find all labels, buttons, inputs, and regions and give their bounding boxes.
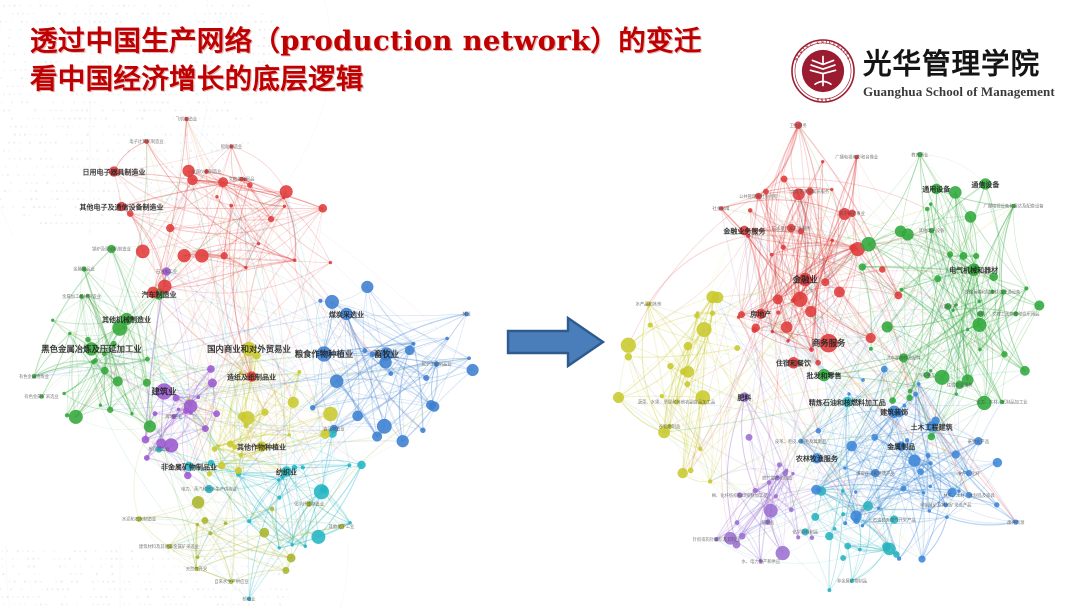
svg-text:水产品和其他: 水产品和其他 — [636, 301, 662, 308]
svg-text:金属加工机械制造业: 金属加工机械制造业 — [62, 293, 101, 300]
svg-text:通用设备: 通用设备 — [922, 185, 951, 194]
svg-text:汽车整车: 汽车整车 — [918, 372, 936, 379]
svg-text:广播电视设备和雷达及配套设备: 广播电视设备和雷达及配套设备 — [983, 203, 1044, 210]
svg-text:谷物磨制品: 谷物磨制品 — [659, 423, 680, 430]
school-name-en: Guanghua School of Management — [863, 84, 1063, 100]
svg-text:金属制品业: 金属制品业 — [73, 266, 95, 273]
svg-text:汽车制造业: 汽车制造业 — [142, 290, 177, 299]
svg-text:其他电子及通信设备制造业: 其他电子及通信设备制造业 — [80, 202, 164, 211]
svg-text:化学纤维制造业: 化学纤维制造业 — [294, 501, 325, 508]
svg-text:批发和零售: 批发和零售 — [807, 371, 842, 380]
network-graph-after: 卫生服务广播电视电影和音像业教育事业公共管理和社会组织文化艺术和娱乐服务科学研究… — [604, 108, 1072, 598]
svg-text:房地产: 房地产 — [750, 310, 771, 319]
svg-text:农林牧渔服务: 农林牧渔服务 — [795, 454, 839, 463]
svg-text:非金属矿物制品: 非金属矿物制品 — [837, 578, 867, 585]
peking-university-seal-icon: PEKING UNIVERSITY 1898 — [790, 38, 856, 104]
svg-text:卫生服务: 卫生服务 — [790, 122, 808, 129]
svg-text:社会保障: 社会保障 — [712, 205, 730, 212]
svg-text:其他化学工业: 其他化学工业 — [329, 523, 355, 530]
svg-text:畜牧业产品: 畜牧业产品 — [968, 438, 989, 445]
transition-arrow — [506, 314, 606, 370]
svg-text:石油和天然气开采产品: 石油和天然气开采产品 — [873, 516, 916, 523]
svg-text:居于工业制品业: 居于工业制品业 — [421, 361, 452, 368]
svg-text:通信设备: 通信设备 — [971, 180, 1000, 189]
svg-text:水、电力生产和供应: 水、电力生产和供应 — [741, 558, 780, 565]
svg-text:船舶制造业: 船舶制造业 — [221, 143, 243, 150]
svg-text:天然气开采: 天然气开采 — [186, 566, 208, 573]
title-line-2: 看中国经济增长的底层逻辑 — [30, 60, 770, 98]
svg-text:食品制造业: 食品制造业 — [323, 426, 345, 433]
svg-text:房地产业: 房地产业 — [165, 413, 183, 420]
svg-text:水泥和石灰制造业: 水泥和石灰制造业 — [122, 516, 157, 523]
svg-text:废弃资源: 废弃资源 — [1007, 519, 1025, 526]
svg-text:化学、化纤: 化学、化纤 — [958, 470, 980, 477]
svg-text:土木工程建筑: 土木工程建筑 — [911, 422, 953, 431]
svg-text:纸制品: 纸制品 — [761, 519, 774, 526]
network-graph-before: 日用电子器具制造业其他电子及通信设备制造业电子计算机制造业飞机制造业船舶制造业仪… — [14, 104, 514, 604]
svg-text:化学原料制品: 化学原料制品 — [792, 529, 818, 536]
svg-text:教育事业: 教育事业 — [911, 151, 929, 158]
svg-text:科学研究事业: 科学研究事业 — [839, 210, 865, 217]
svg-text:广播电视电影和音像业: 广播电视电影和音像业 — [835, 154, 879, 161]
svg-text:燃气生产和供应: 燃气生产和供应 — [762, 475, 793, 482]
svg-text:铁路运输和城市轨道交通设备: 铁路运输和城市轨道交通设备 — [964, 288, 1021, 295]
svg-text:有色金属冶炼业: 有色金属冶炼业 — [19, 373, 50, 380]
svg-text:林业: 林业 — [462, 311, 471, 318]
svg-text:自来水生产供应业: 自来水生产供应业 — [214, 578, 249, 585]
svg-text:国内商业和对外贸易业: 国内商业和对外贸易业 — [207, 344, 291, 354]
svg-text:电力、蒸汽和热水生产供应业: 电力、蒸汽和热水生产供应业 — [181, 486, 238, 493]
svg-text:非金属矿物制品业: 非金属矿物制品业 — [161, 462, 217, 471]
svg-text:煤炭采选业: 煤炭采选业 — [329, 310, 364, 319]
svg-text:建筑材料及其他非金属矿采选业: 建筑材料及其他非金属矿采选业 — [139, 543, 200, 550]
svg-text:精炼石油和核燃料加工品: 精炼石油和核燃料加工品 — [809, 398, 886, 407]
svg-text:金融业: 金融业 — [792, 274, 819, 284]
svg-text:住宿企业服务: 住宿企业服务 — [947, 382, 973, 389]
svg-text:邮电业: 邮电业 — [243, 596, 257, 603]
svg-text:黑色金属冶炼及压延加工业: 黑色金属冶炼及压延加工业 — [41, 344, 142, 354]
svg-text:建筑装饰: 建筑装饰 — [880, 408, 908, 417]
svg-text:公共管理和社会组织: 公共管理和社会组织 — [739, 193, 778, 200]
svg-text:住宿和餐饮: 住宿和餐饮 — [776, 359, 812, 368]
svg-text:畜牧业: 畜牧业 — [374, 349, 400, 359]
svg-text:电子计算机制造业: 电子计算机制造业 — [129, 138, 164, 145]
svg-text:建筑业: 建筑业 — [150, 386, 177, 396]
svg-text:其他电子设备: 其他电子设备 — [919, 227, 945, 234]
slide-canvas: 透过中国生产网络（production network）的变迁 看中国经济增长的… — [0, 0, 1080, 608]
svg-text:文教工美体育和娱乐用品: 文教工美体育和娱乐用品 — [992, 311, 1039, 318]
svg-text:汽车零部件及配件: 汽车零部件及配件 — [886, 355, 921, 362]
title-line-1: 透过中国生产网络（production network）的变迁 — [30, 22, 770, 60]
svg-text:肥料: 肥料 — [736, 393, 751, 402]
svg-text:非金属矿及其他矿采选产品: 非金属矿及其他矿采选产品 — [920, 502, 972, 509]
svg-text:造纸及纸制品业: 造纸及纸制品业 — [227, 372, 276, 381]
svg-text:光华管理学院: 光华管理学院 — [863, 46, 1040, 80]
svg-text:技术推广和先进服务: 技术推广和先进服务 — [772, 225, 811, 232]
svg-text:布匹制造业: 布匹制造业 — [148, 446, 170, 453]
svg-text:商务服务: 商务服务 — [812, 338, 846, 348]
svg-text:林产、木材、木制品及家具: 林产、木材、木制品及家具 — [943, 492, 995, 499]
svg-text:其他机械制造业: 其他机械制造业 — [102, 315, 151, 324]
svg-text:化工、木材、纸制品加工业: 化工、木材、纸制品加工业 — [976, 399, 1028, 406]
svg-text:金融业务服务: 金融业务服务 — [722, 226, 766, 235]
svg-text:日用电子器具制造业: 日用电子器具制造业 — [83, 167, 146, 176]
svg-text:煤炭开采和洗选产品: 煤炭开采和洗选产品 — [856, 470, 895, 477]
svg-text:锅炉及原动机制造业: 锅炉及原动机制造业 — [92, 246, 131, 253]
svg-text:仪器仪表制造业: 仪器仪表制造业 — [191, 168, 222, 175]
svg-text:纺织业: 纺织业 — [276, 467, 297, 476]
svg-text:飞机制造业: 飞机制造业 — [176, 116, 198, 123]
svg-text:粮食作物种植业: 粮食作物种植业 — [295, 349, 354, 359]
svg-text:有色金属矿采选业: 有色金属矿采选业 — [24, 393, 59, 400]
svg-text:石油加工业: 石油加工业 — [156, 268, 178, 275]
svg-text:其他作物种植业: 其他作物种植业 — [237, 442, 286, 451]
svg-text:电机: 电机 — [976, 311, 985, 318]
svg-text:文化艺术和娱乐服务: 文化艺术和娱乐服务 — [791, 188, 830, 195]
school-name-cn: 光华管理学院 — [863, 43, 1063, 83]
guanghua-logo: PEKING UNIVERSITY 1898 光华管理学院 Guanghua S… — [790, 38, 1063, 104]
svg-text:棉、化纤纺织和印染精加工品: 棉、化纤纺织和印染精加工品 — [712, 492, 768, 499]
svg-text:皮革、毛皮、羽毛及其制品: 皮革、毛皮、羽毛及其制品 — [775, 438, 827, 445]
svg-text:电气机械和器材: 电气机械和器材 — [949, 266, 998, 275]
svg-text:文教体育用品: 文教体育用品 — [229, 176, 255, 183]
svg-text:金属制品: 金属制品 — [886, 442, 915, 451]
svg-text:仪器仪表: 仪器仪表 — [939, 303, 957, 310]
page-title: 透过中国生产网络（production network）的变迁 看中国经济增长的… — [30, 22, 770, 98]
svg-text:针织或钩针编织及其制品: 针织或钩针编织及其制品 — [693, 536, 740, 543]
svg-text:蔬菜、水果、坚果和其他农副食品加工品: 蔬菜、水果、坚果和其他农副食品加工品 — [638, 399, 715, 406]
